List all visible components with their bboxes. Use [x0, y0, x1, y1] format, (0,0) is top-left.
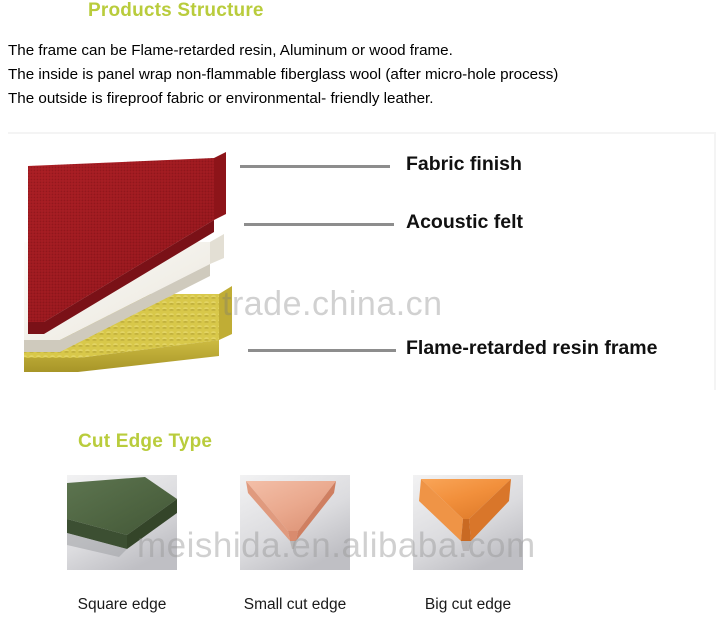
description-line: The outside is fireproof fabric or envir… [8, 87, 720, 111]
cut-edge-type-heading: Cut Edge Type [78, 431, 212, 453]
leader-line-felt [244, 223, 394, 226]
panel-structure-diagram: Fabric finish Acoustic felt Flame-retard… [8, 132, 716, 390]
products-structure-description: The frame can be Flame-retarded resin, A… [8, 39, 720, 111]
square-edge-thumbnail[interactable] [67, 475, 177, 570]
small-cut-edge-thumbnail[interactable] [240, 475, 350, 570]
cut-edge-sample[interactable]: Big cut edge [388, 475, 548, 614]
watermark-trade-china: trade.china.cn [222, 285, 443, 324]
callout-label-acoustic-felt: Acoustic felt [406, 211, 523, 234]
leader-line-resin [248, 349, 396, 352]
sample-label: Big cut edge [388, 596, 548, 614]
big-cut-edge-thumbnail[interactable] [413, 475, 523, 570]
top-fabric-layer [14, 144, 254, 374]
cut-edge-sample[interactable]: Small cut edge [215, 475, 375, 614]
callout-label-resin-frame: Flame-retarded resin frame [406, 337, 657, 360]
products-structure-heading: Products Structure [88, 0, 264, 22]
sample-label: Small cut edge [215, 596, 375, 614]
cut-edge-sample[interactable]: Square edge [42, 475, 202, 614]
callout-label-fabric-finish: Fabric finish [406, 153, 522, 176]
cut-edge-sample-gallery: Square edge [0, 475, 724, 634]
description-line: The frame can be Flame-retarded resin, A… [8, 39, 720, 63]
sample-label: Square edge [42, 596, 202, 614]
leader-line-fabric [240, 165, 390, 168]
description-line: The inside is panel wrap non-flammable f… [8, 63, 720, 87]
layered-panel-illustration [14, 144, 254, 374]
